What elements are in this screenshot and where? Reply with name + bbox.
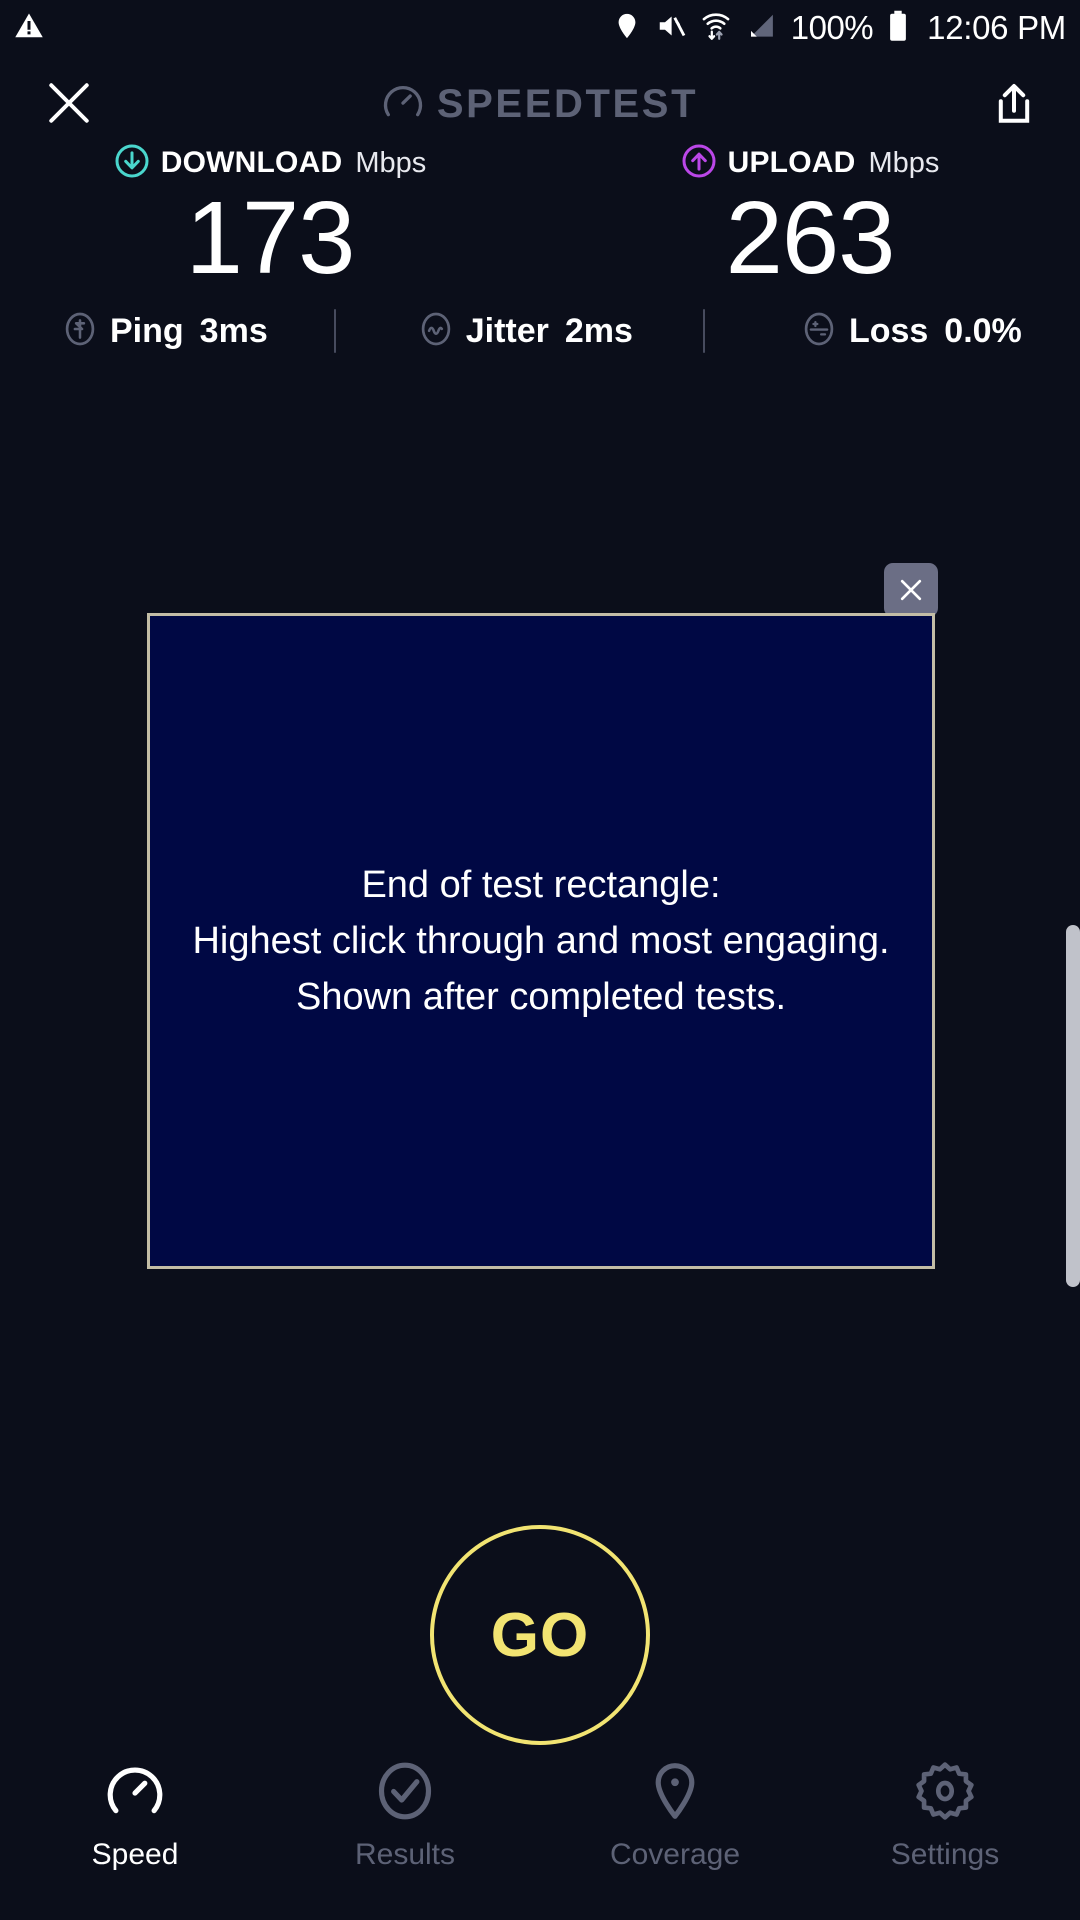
volume-muted-icon [655,11,687,46]
advertisement-text: End of test rectangle: Highest click thr… [178,857,903,1026]
nav-item-settings[interactable]: Settings [810,1758,1080,1872]
download-arrow-circle-icon [114,143,150,184]
warning-triangle-icon [14,11,44,46]
metric-loss: Loss 0.0% [801,311,1022,352]
go-button[interactable]: GO [430,1525,650,1745]
nav-label-results: Results [355,1838,455,1872]
bottom-navigation: Speed Results Coverage [0,1744,1080,1920]
app-header: SPEEDTEST [0,58,1080,150]
upload-label: UPLOAD [728,146,856,180]
speedtest-app-screen: 100% 12:06 PM SPEEDTEST [0,0,1080,1920]
map-pin-icon [644,1758,706,1824]
upload-arrow-circle-icon [681,143,717,184]
speedometer-icon [382,81,424,128]
vertical-scrollbar-thumb[interactable] [1066,925,1080,1287]
status-bar-left [14,11,44,46]
location-pin-icon [613,11,641,46]
nav-item-speed[interactable]: Speed [0,1758,270,1872]
jitter-wave-icon [418,311,454,352]
download-result: DOWNLOAD Mbps 173 [0,140,540,290]
gear-icon [914,1758,976,1824]
nav-label-coverage: Coverage [610,1838,740,1872]
upload-value: 263 [726,185,895,290]
download-label: DOWNLOAD [161,146,343,180]
nav-item-results[interactable]: Results [270,1758,540,1872]
cellular-signal-icon [745,11,777,46]
brand-lockup: SPEEDTEST [0,58,1080,150]
page-title: SPEEDTEST [437,82,698,127]
nav-label-settings: Settings [891,1838,999,1872]
metric-divider [703,309,705,353]
check-circle-icon [374,1758,436,1824]
upload-unit: Mbps [868,147,939,180]
wifi-transfer-icon [701,10,731,47]
jitter-value: 2ms [565,312,633,351]
battery-percent-label: 100% [791,9,873,47]
nav-label-speed: Speed [92,1838,179,1872]
metric-divider [334,309,336,353]
ad-close-button[interactable] [884,563,938,617]
loss-label: Loss [849,312,928,351]
packet-loss-icon [801,311,837,352]
status-bar-right: 100% 12:06 PM [613,9,1066,47]
close-x-icon[interactable] [38,72,100,134]
status-bar: 100% 12:06 PM [0,0,1080,56]
jitter-label: Jitter [466,312,549,351]
status-bar-clock: 12:06 PM [927,9,1066,47]
share-upload-icon[interactable] [984,74,1044,134]
go-button-label: GO [491,1600,589,1671]
speed-results: DOWNLOAD Mbps 173 UPLOAD Mbps 263 [0,140,1080,290]
metric-ping: Ping 3ms [62,311,268,352]
ping-icon [62,311,98,352]
loss-value: 0.0% [944,312,1022,351]
advertisement-banner[interactable]: End of test rectangle: Highest click thr… [147,613,935,1269]
speedometer-icon [104,1758,166,1824]
upload-result: UPLOAD Mbps 263 [540,140,1080,290]
download-value: 173 [186,185,355,290]
battery-full-icon [887,10,909,47]
ping-label: Ping [110,312,184,351]
nav-item-coverage[interactable]: Coverage [540,1758,810,1872]
ping-value: 3ms [200,312,268,351]
ad-close-x-icon [895,574,927,606]
network-metrics-row: Ping 3ms Jitter 2ms [0,300,1080,362]
download-unit: Mbps [355,147,426,180]
metric-jitter: Jitter 2ms [418,311,633,352]
